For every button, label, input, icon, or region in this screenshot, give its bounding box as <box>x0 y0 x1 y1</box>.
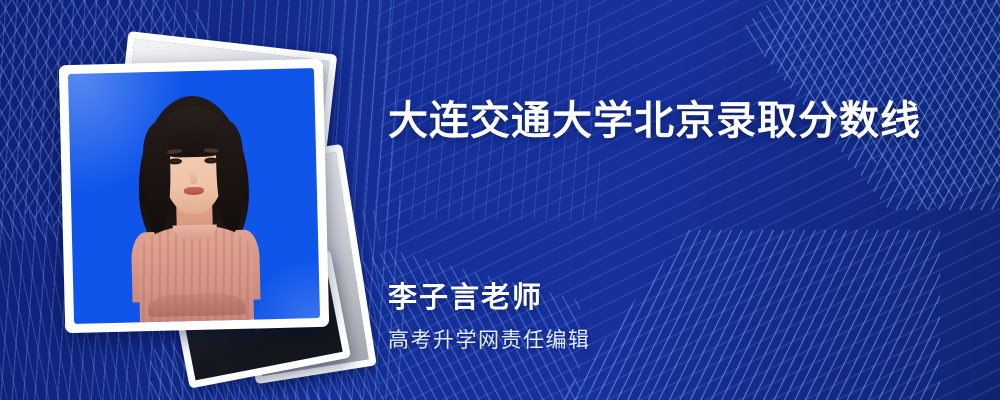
banner-text-column: 大连交通大学北京录取分数线 李子言老师 高考升学网责任编辑 <box>388 0 963 400</box>
photo-card-main <box>59 59 329 333</box>
portrait-eye-right <box>204 157 218 164</box>
portrait-illustration <box>68 68 320 324</box>
article-header-banner: 大连交通大学北京录取分数线 李子言老师 高考升学网责任编辑 <box>0 0 1000 400</box>
photo-card-stack <box>60 40 350 360</box>
author-name: 李子言老师 <box>388 274 543 316</box>
portrait-nose <box>189 171 197 184</box>
author-portrait-photo <box>68 68 320 324</box>
portrait-eyebrow-right <box>203 148 218 153</box>
author-role: 高考升学网责任编辑 <box>388 324 591 354</box>
banner-title: 大连交通大学北京录取分数线 <box>388 96 921 146</box>
portrait-waistline <box>147 292 246 317</box>
